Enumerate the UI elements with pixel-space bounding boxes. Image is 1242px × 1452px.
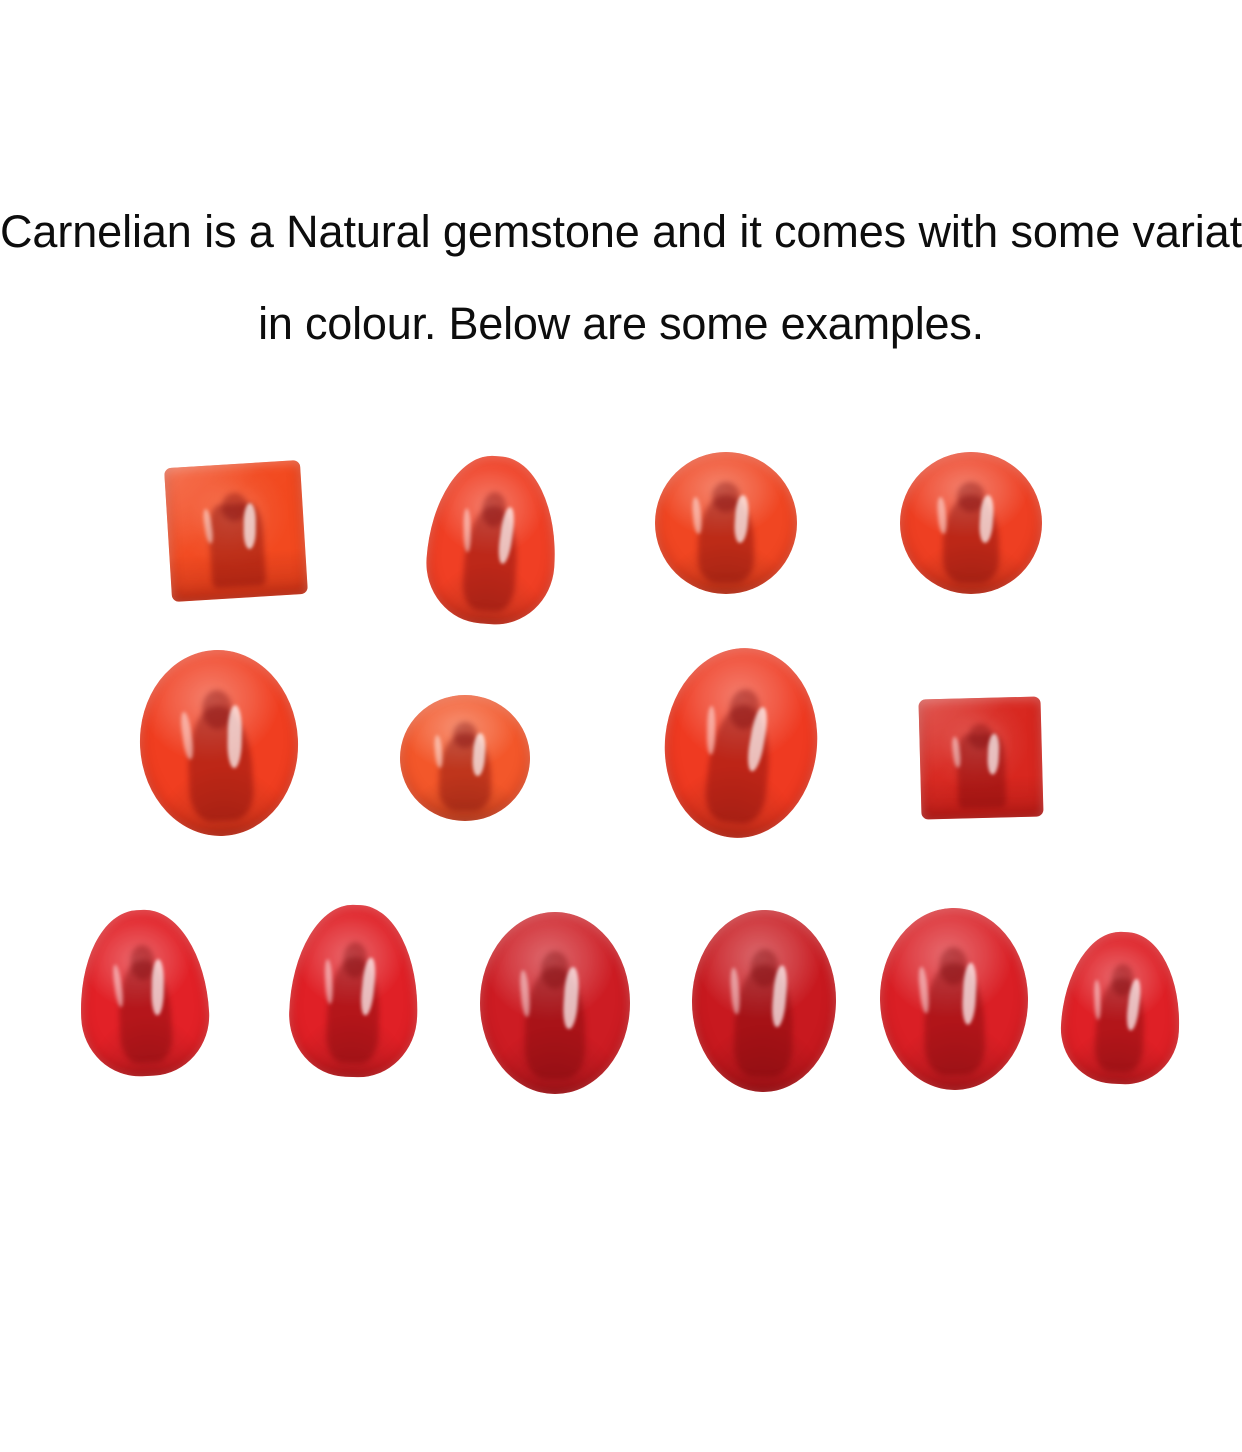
- gem-rim: [655, 452, 797, 594]
- gemstone-oval-13: [878, 907, 1029, 1092]
- gemstone-oval-7: [655, 641, 826, 846]
- gem-rim: [76, 907, 213, 1079]
- gemstone-pear-9: [76, 907, 213, 1079]
- caption-text: Carnelian is a Natural gemstone and it c…: [0, 186, 1242, 370]
- gem-rim: [480, 912, 630, 1094]
- gemstone-oval-12: [690, 909, 837, 1093]
- gemstone-oval-5: [135, 646, 303, 840]
- gem-rim: [135, 646, 303, 840]
- gemstone-square-8: [918, 696, 1043, 819]
- gem-rim: [655, 641, 826, 846]
- gemstone-pear-10: [287, 903, 421, 1079]
- gem-rim: [690, 909, 837, 1093]
- gemstone-gallery: [0, 420, 1242, 1120]
- gem-rim: [400, 695, 530, 821]
- gemstone-pear-14: [1058, 929, 1184, 1087]
- gemstone-oval-11: [480, 912, 630, 1094]
- gemstone-round-4: [900, 452, 1042, 594]
- gemstone-square-1: [164, 460, 308, 602]
- gem-rim: [900, 452, 1042, 594]
- product-description-image: Carnelian is a Natural gemstone and it c…: [0, 0, 1242, 1452]
- gemstone-pear-2: [422, 452, 561, 629]
- gem-rim: [164, 460, 308, 602]
- gem-rim: [878, 907, 1029, 1092]
- caption-line-2: in colour. Below are some examples.: [0, 278, 1242, 370]
- gem-rim: [1058, 929, 1184, 1087]
- gem-rim: [422, 452, 561, 629]
- caption-line-1: Carnelian is a Natural gemstone and it c…: [0, 186, 1242, 278]
- gem-rim: [287, 903, 421, 1079]
- gem-rim: [918, 696, 1043, 819]
- gemstone-round-6: [400, 695, 530, 821]
- gemstone-round-3: [655, 452, 797, 594]
